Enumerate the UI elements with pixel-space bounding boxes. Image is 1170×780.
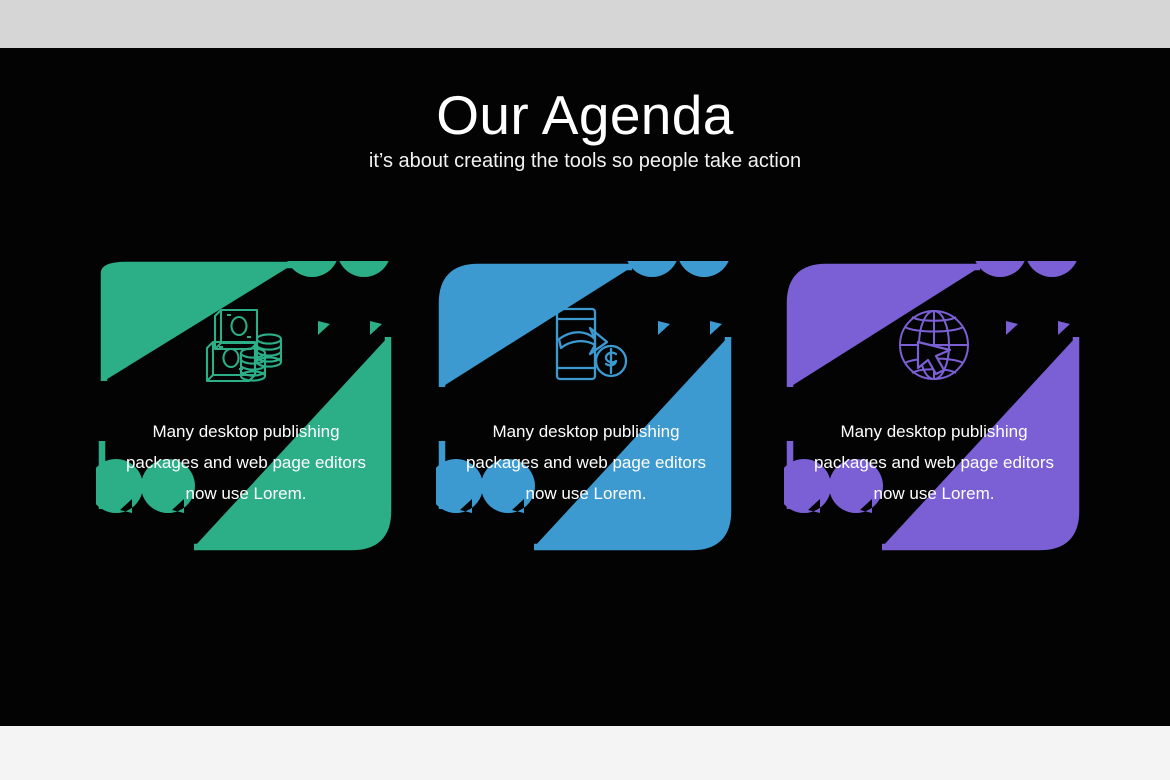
bottom-letterbox-bar	[0, 726, 1170, 780]
mobile-payment-dollar-icon	[436, 299, 736, 391]
agenda-card[interactable]: Many desktop publishing packages and web…	[96, 261, 396, 571]
globe-cursor-icon	[784, 299, 1084, 391]
slide-canvas: Our Agenda it’s about creating the tools…	[0, 48, 1170, 726]
card-body-text: Many desktop publishing packages and web…	[454, 416, 718, 509]
slide-root: Our Agenda it’s about creating the tools…	[0, 0, 1170, 780]
card-body-text: Many desktop publishing packages and web…	[114, 416, 378, 509]
agenda-card[interactable]: Many desktop publishing packages and web…	[784, 261, 1084, 571]
card-body-text: Many desktop publishing packages and web…	[802, 416, 1066, 509]
agenda-card[interactable]: Many desktop publishing packages and web…	[436, 261, 736, 571]
agenda-card-list: Many desktop publishing packages and web…	[0, 48, 1170, 726]
money-cash-coins-icon	[96, 299, 396, 391]
top-letterbox-bar	[0, 0, 1170, 48]
